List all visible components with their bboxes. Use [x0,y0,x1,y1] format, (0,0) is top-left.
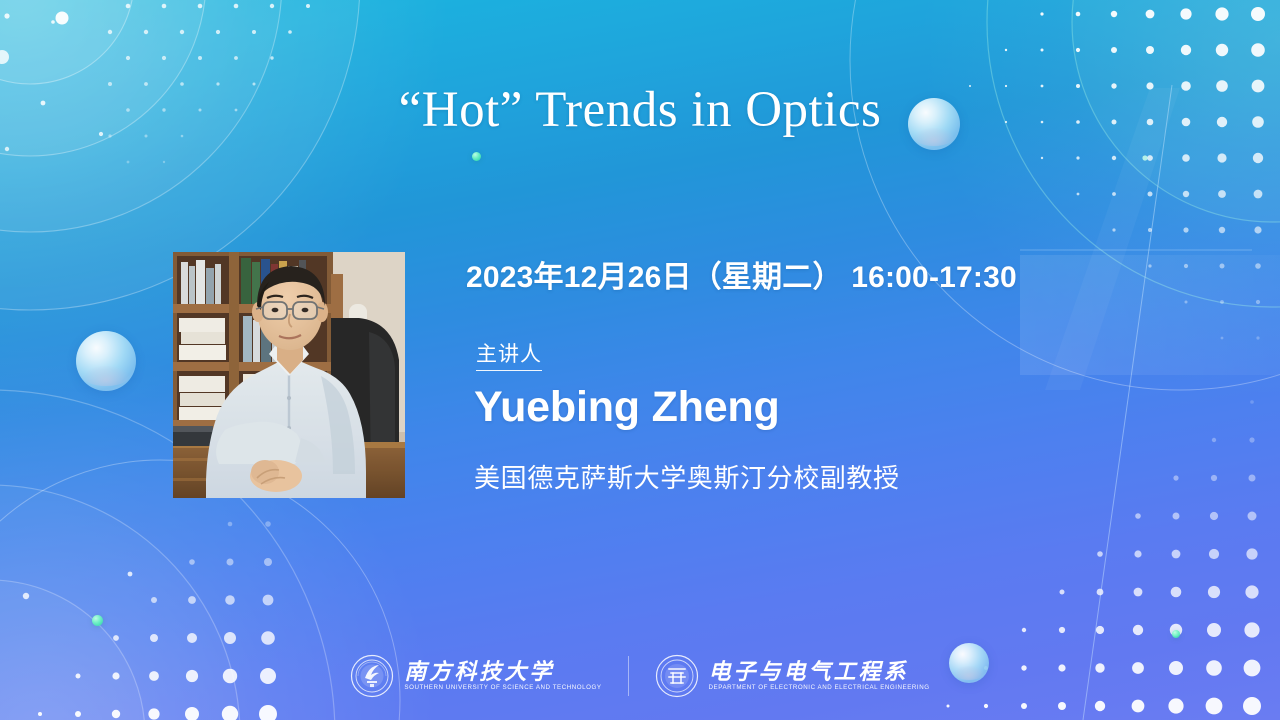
footer-logos: 南方科技大学 SOUTHERN UNIVERSITY OF SCIENCE AN… [0,654,1280,698]
decorative-sphere-left [76,331,136,391]
department-logo-text: 电子与电气工程系 DEPARTMENT OF ELECTRONIC AND EL… [709,660,930,692]
department-name-en: DEPARTMENT OF ELECTRONIC AND ELECTRICAL … [709,685,930,692]
speaker-name: Yuebing Zheng [474,383,780,432]
speaker-photo [173,252,405,498]
speaker-label: 主讲人 [476,338,542,371]
page-title: “Hot” Trends in Optics [0,82,1280,139]
university-seal-icon [350,654,394,698]
logo-divider [628,656,629,696]
accent-dot-green-right [1172,630,1180,638]
accent-dot-green-left [92,615,103,626]
department-name-cn: 电子与电气工程系 [709,660,930,683]
seminar-poster-slide: “Hot” Trends in Optics 2023年12月26日（星期二） … [0,0,1280,720]
university-name-en: SOUTHERN UNIVERSITY OF SCIENCE AND TECHN… [404,685,601,692]
department-seal-icon [655,654,699,698]
university-logo-text: 南方科技大学 SOUTHERN UNIVERSITY OF SCIENCE AN… [404,660,601,692]
accent-dot-green-top [472,152,481,161]
event-datetime: 2023年12月26日（星期二） 16:00-17:30 [466,252,1017,296]
university-name-cn: 南方科技大学 [404,660,601,683]
university-logo: 南方科技大学 SOUTHERN UNIVERSITY OF SCIENCE AN… [350,654,601,698]
speaker-affiliation: 美国德克萨斯大学奥斯汀分校副教授 [474,458,900,495]
department-logo: 电子与电气工程系 DEPARTMENT OF ELECTRONIC AND EL… [655,654,930,698]
